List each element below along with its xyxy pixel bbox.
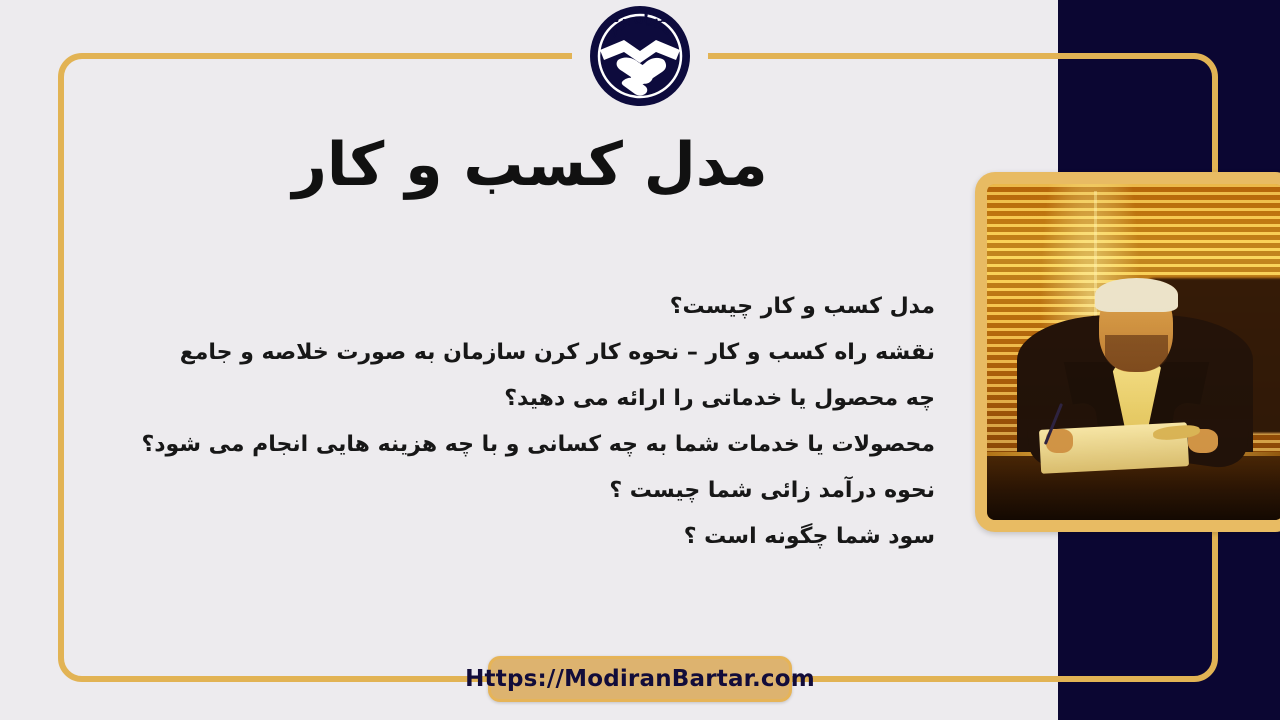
body-line-6: سود شما چگونه است ؟	[115, 526, 935, 548]
photo-warm-overlay	[987, 184, 1280, 520]
logo-brand-text-visible: مدیران برتر	[607, 12, 671, 25]
portrait-photo-card	[975, 172, 1280, 532]
body-copy: مدل کسب و کار چیست؟ نقشه راه کسب و کار –…	[115, 296, 935, 548]
website-url-badge[interactable]: Https://ModiranBartar.com	[488, 656, 792, 702]
body-line-4: محصولات یا خدمات شما به چه کسانی و با چه…	[115, 434, 935, 456]
portrait-photo	[987, 184, 1280, 520]
slide-canvas: مدیران برتر مدیران برتر مدل کسب و کار مد…	[0, 0, 1280, 720]
body-line-2: نقشه راه کسب و کار – نحوه کار کرن سازمان…	[115, 342, 935, 364]
body-line-5: نحوه درآمد زائی شما چیست ؟	[115, 480, 935, 502]
body-line-3: چه محصول یا خدماتی را ارائه می دهید؟	[115, 388, 935, 410]
page-title: مدل کسب و کار	[0, 132, 1060, 198]
modiran-bartar-logo: مدیران برتر مدیران برتر	[578, 0, 702, 118]
website-url-text: Https://ModiranBartar.com	[465, 666, 815, 692]
body-line-1: مدل کسب و کار چیست؟	[115, 296, 935, 318]
